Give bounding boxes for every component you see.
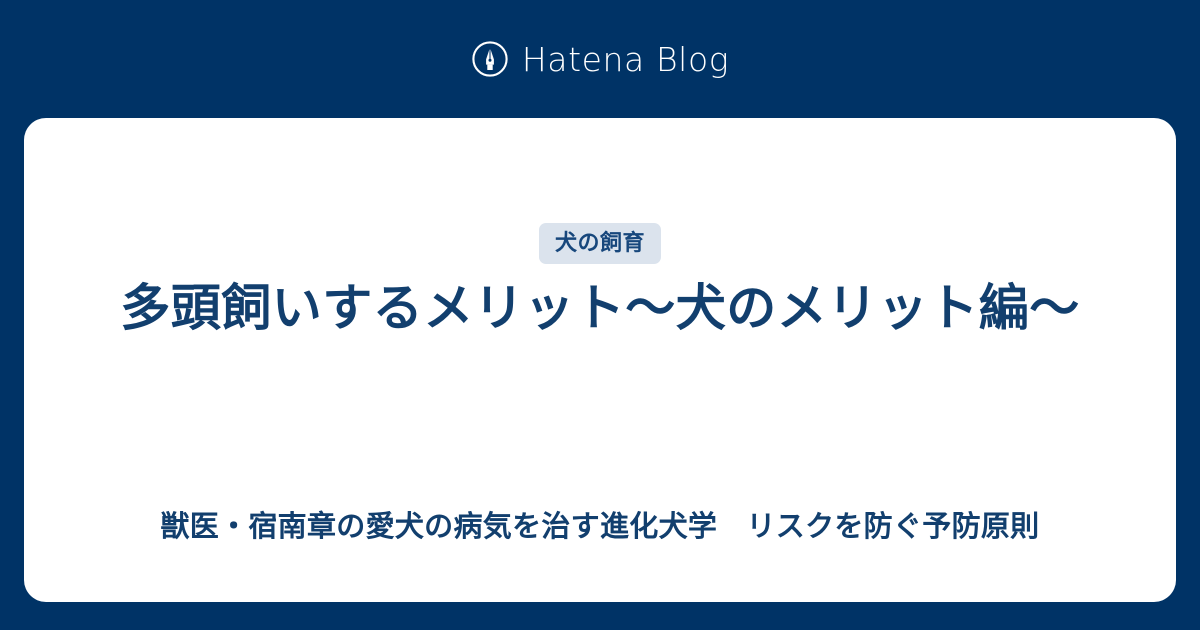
hatena-pen-nib-icon	[471, 40, 509, 78]
category-badge-row: 犬の飼育	[24, 223, 1176, 264]
site-header: Hatena Blog	[0, 0, 1200, 118]
entry-card-inner: 犬の飼育 多頭飼いするメリット〜犬のメリット編〜 獣医・宿南章の愛犬の病気を治す…	[24, 118, 1176, 602]
category-badge[interactable]: 犬の飼育	[539, 223, 661, 264]
hatena-blog-wordmark: Hatena Blog	[522, 43, 729, 76]
entry-title: 多頭飼いするメリット〜犬のメリット編〜	[84, 275, 1116, 342]
entry-card: 犬の飼育 多頭飼いするメリット〜犬のメリット編〜 獣医・宿南章の愛犬の病気を治す…	[24, 118, 1176, 602]
blog-title: 獣医・宿南章の愛犬の病気を治す進化犬学 リスクを防ぐ予防原則	[64, 509, 1136, 547]
